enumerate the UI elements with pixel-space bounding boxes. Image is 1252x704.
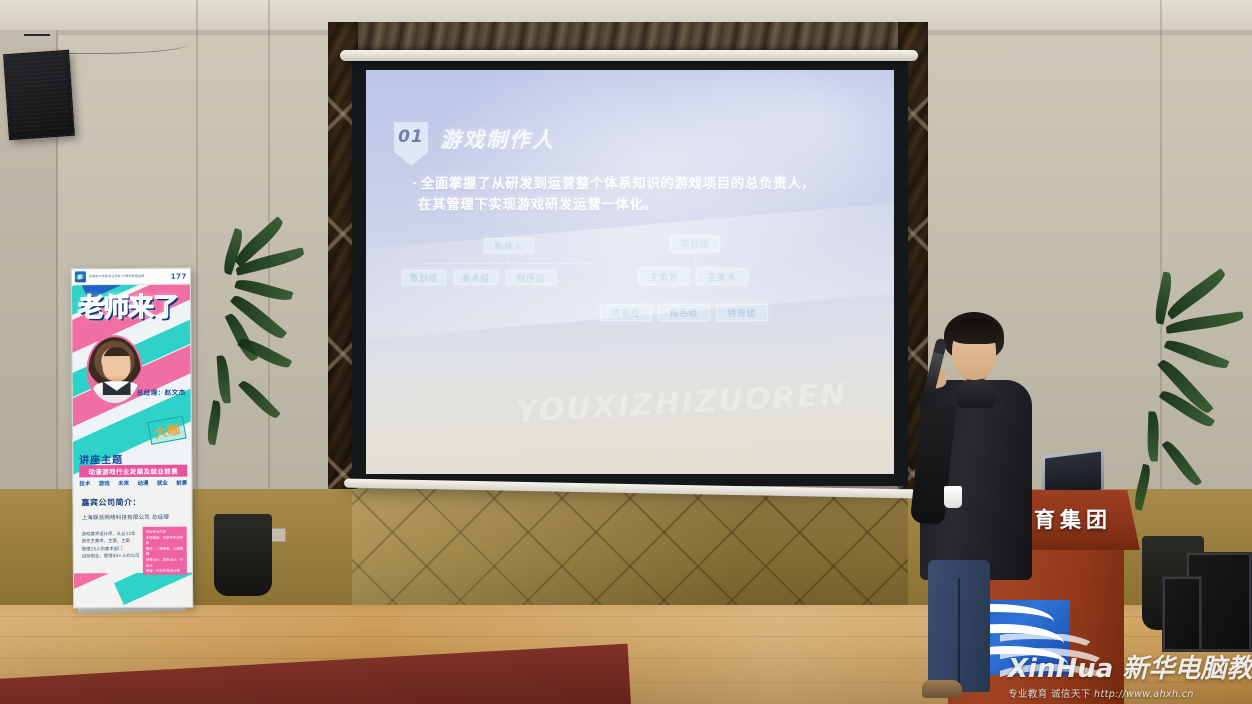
rollup-banner: 安徽新华电脑专业学校 计算机教育品牌 177 老师来了 总经理：赵文杰 大咖 讲…	[71, 268, 193, 609]
lattice-wainscot	[352, 489, 908, 605]
marble-header-band	[328, 22, 928, 52]
banner-section-title: 讲座主题	[79, 451, 123, 466]
banner-tag: 游戏	[99, 479, 110, 487]
banner-tag: 前景	[176, 479, 187, 487]
banner-footer-art	[74, 573, 192, 608]
org-connector	[424, 263, 594, 264]
banner-highlight-line: 荣誉：行业优秀设计师	[146, 569, 184, 575]
ceiling-speaker	[3, 50, 75, 140]
projected-slide: 01 游戏制作人 ·全面掌握了从研发到运营整个体系知识的游戏项目的总负责人， 在…	[366, 70, 894, 474]
org-box-right-mid-1: 主策划	[638, 268, 690, 285]
org-connector	[508, 253, 509, 263]
org-box-left-child-2: 美术组	[454, 270, 498, 285]
org-box-right-bot-2: 角色组	[658, 304, 710, 321]
banner-highlight-box: 先后参与开发 多款端游、页游及手游项目 擅长：二维原画、三维建模 场景设计、角色…	[143, 527, 187, 575]
org-box-left-top: 制作人	[484, 238, 534, 253]
potted-plant-left	[196, 246, 306, 606]
banner-bio-line: 目前创业，管理50+人的公司	[82, 553, 144, 561]
flight-case-2	[1162, 576, 1202, 652]
org-box-right-bot-3: 特效组	[716, 304, 768, 321]
presenter-legs	[928, 560, 990, 692]
paper-cup	[944, 486, 962, 508]
banner-tag: 技术	[79, 479, 90, 487]
school-logo-icon	[75, 271, 86, 282]
banner-highlight-line: 场景设计、角色设计、UI设计	[146, 558, 184, 569]
banner-guest-label: 嘉宾公司简介：	[81, 497, 141, 508]
presenter-collar	[956, 378, 996, 408]
org-connector	[695, 252, 696, 268]
banner-tag: 就业	[157, 479, 168, 487]
banner-header: 安徽新华电脑专业学校 计算机教育品牌 177	[72, 269, 190, 286]
banner-title: 老师来了	[78, 295, 186, 322]
banner-topic: 动漫游戏行业发展及就业前景	[79, 465, 187, 478]
screen-roller-casing	[340, 50, 918, 61]
banner-tag-row: 技术 游戏 未来 动漫 就业 前景	[79, 479, 187, 488]
org-box-right-top: 项目组	[670, 236, 720, 252]
banner-company: 上海娱派网络科技有限公司 总经理	[82, 513, 188, 522]
presenter-fringe	[948, 318, 1002, 344]
banner-header-text: 安徽新华电脑专业学校 计算机教育品牌	[89, 274, 168, 279]
banner-highlight-line: 多款端游、页游及手游项目	[146, 535, 184, 546]
org-box-right-bot-1: 场景组	[600, 304, 652, 321]
banner-portrait-avatar	[86, 335, 142, 405]
banner-tag: 动漫	[137, 479, 148, 487]
banner-header-number: 177	[171, 272, 187, 280]
org-box-left-child-1: 策划组	[402, 270, 446, 285]
org-box-right-mid-2: 主美术	[696, 268, 748, 285]
org-box-left-child-3: 程序组	[506, 270, 556, 285]
presenter-shoe	[922, 680, 962, 698]
banner-tag: 未来	[118, 479, 129, 487]
banner-bio: 游戏美术设计师，从业12年 曾任主美术、主管、主案 管理15人的美术部门 目前创…	[82, 531, 144, 561]
lecture-hall-scene: 01 游戏制作人 ·全面掌握了从研发到运营整个体系知识的游戏项目的总负责人， 在…	[0, 0, 1252, 704]
banner-highlight-line: 擅长：二维原画、三维建模	[146, 546, 184, 557]
banner-manager-label: 总经理：赵文杰	[137, 387, 186, 397]
